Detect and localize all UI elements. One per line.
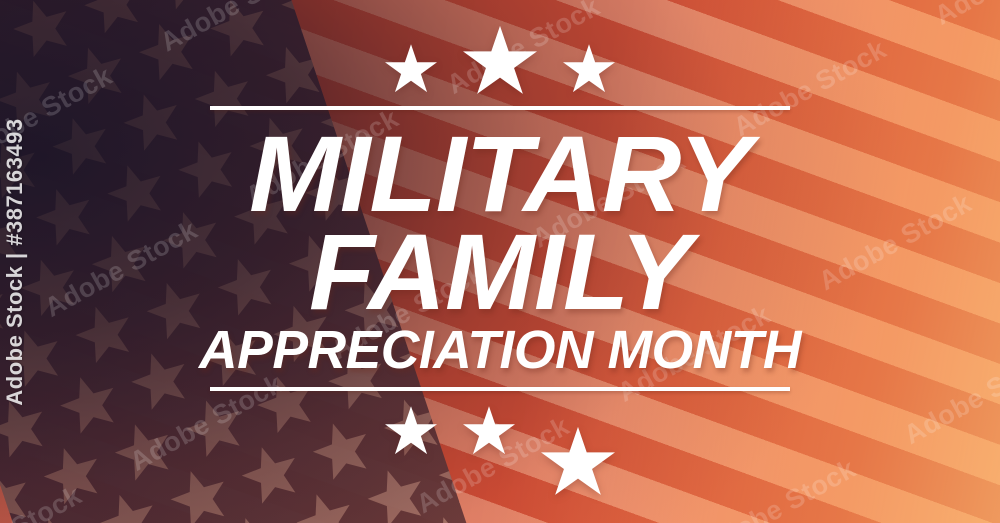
star-icon bbox=[563, 43, 615, 95]
headline-line-3: APPRECIATION MONTH bbox=[199, 325, 801, 377]
headline-line-1: MILITARY bbox=[249, 122, 751, 226]
watermark-side-label: Adobe Stock | #387163493 bbox=[2, 118, 28, 405]
star-icon bbox=[385, 43, 437, 95]
headline-line-2: FAMILY bbox=[309, 220, 691, 324]
poster-content: MILITARY FAMILY APPRECIATION MONTH bbox=[0, 0, 1000, 523]
poster-canvas: Adobe Stock Adobe Stock Adobe Stock Adob… bbox=[0, 0, 1000, 523]
star-icon bbox=[463, 24, 537, 98]
star-icon bbox=[463, 405, 515, 457]
decorative-stars-top bbox=[0, 24, 1000, 98]
decorative-stars-bottom bbox=[0, 405, 1000, 499]
divider-rule-bottom bbox=[210, 387, 790, 391]
star-icon bbox=[385, 405, 437, 457]
divider-rule-top bbox=[210, 106, 790, 110]
star-icon bbox=[541, 425, 615, 499]
